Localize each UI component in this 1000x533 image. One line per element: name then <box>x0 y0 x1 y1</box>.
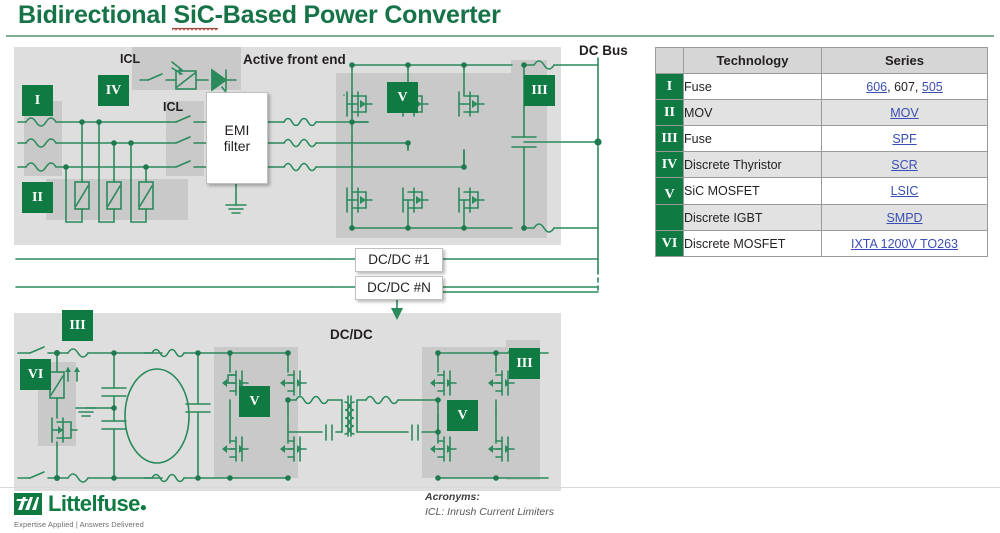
table-cell-series: IXTA 1200V TO263 <box>822 231 988 257</box>
table-row: IVDiscrete ThyristorSCR <box>656 152 988 178</box>
table-cell-numeral: I <box>656 74 684 100</box>
footer-divider <box>0 487 1000 488</box>
littelfuse-mark-icon <box>14 493 42 515</box>
series-text: 607 <box>894 80 915 94</box>
table-cell-series: MOV <box>822 100 988 126</box>
table-cell-technology: MOV <box>684 100 822 126</box>
active-front-end-label: Active front end <box>243 52 346 67</box>
dc-bus-label: DC Bus <box>579 43 628 58</box>
table-row: VSiC MOSFETLSIC <box>656 178 988 205</box>
badge-afe-thyristor: IV <box>98 75 129 106</box>
table-cell-technology: Discrete Thyristor <box>684 152 822 178</box>
acronyms-heading: Acronyms: <box>425 490 554 505</box>
table-header-row: Technology Series <box>656 48 988 74</box>
emi-filter-label-line2: filter <box>224 138 250 154</box>
series-link[interactable]: 505 <box>922 80 943 94</box>
technology-series-table: Technology Series IFuse606, 607, 505IIMO… <box>655 47 988 257</box>
series-text: , <box>915 80 922 94</box>
series-link[interactable]: SPF <box>892 132 916 146</box>
emi-filter-label-line1: EMI <box>225 122 250 138</box>
badge-dcdc-discrete-mosfet: VI <box>20 359 51 390</box>
table-body: IFuse606, 607, 505IIMOVMOVIIIFuseSPFIVDi… <box>656 74 988 257</box>
table-cell-series: SCR <box>822 152 988 178</box>
table-row: IIIFuseSPF <box>656 126 988 152</box>
littelfuse-tagline: Expertise Applied | Answers Delivered <box>14 520 144 529</box>
littelfuse-logo: Littelfuse● Expertise Applied | Answers … <box>14 492 204 530</box>
table-cell-technology: Fuse <box>684 74 822 100</box>
icl-switch-label: ICL <box>163 100 183 114</box>
table-cell-series: SMPD <box>822 205 988 231</box>
table-cell-series: LSIC <box>822 178 988 205</box>
badge-afe-dc-fuse: III <box>524 75 555 106</box>
table-cell-numeral-continued <box>656 205 684 231</box>
series-link[interactable]: MOV <box>890 106 918 120</box>
icl-thyristor-label: ICL <box>120 52 140 66</box>
acronyms-note: Acronyms: ICL: Inrush Current Limiters <box>425 490 554 520</box>
table-cell-numeral: VI <box>656 231 684 257</box>
table-cell-numeral: IV <box>656 152 684 178</box>
littelfuse-wordmark: Littelfuse● <box>48 491 146 517</box>
series-link[interactable]: 606 <box>866 80 887 94</box>
header-technology: Technology <box>684 48 822 74</box>
series-link[interactable]: SMPD <box>886 211 922 225</box>
header-series: Series <box>822 48 988 74</box>
table-row: Discrete IGBTSMPD <box>656 205 988 231</box>
table-cell-series: 606, 607, 505 <box>822 74 988 100</box>
badge-dcdc-output-fuse: III <box>509 348 540 379</box>
emi-filter-block: EMI filter <box>206 92 268 184</box>
badge-dcdc-input-fuse: III <box>62 310 93 341</box>
table-row: VIDiscrete MOSFETIXTA 1200V TO263 <box>656 231 988 257</box>
series-link[interactable]: SCR <box>891 158 917 172</box>
badge-dcdc-secondary-mosfet: V <box>447 400 478 431</box>
table-cell-technology: Discrete IGBT <box>684 205 822 231</box>
series-link[interactable]: IXTA 1200V TO263 <box>851 237 958 251</box>
dcdc-section-label: DC/DC <box>330 327 373 342</box>
series-link[interactable]: LSIC <box>891 184 919 198</box>
table-cell-numeral: III <box>656 126 684 152</box>
table-cell-technology: SiC MOSFET <box>684 178 822 205</box>
table-cell-technology: Discrete MOSFET <box>684 231 822 257</box>
table-cell-technology: Fuse <box>684 126 822 152</box>
table-cell-numeral: II <box>656 100 684 126</box>
wordmark-text: Littelfuse <box>48 491 140 516</box>
table-cell-numeral: V <box>656 178 684 205</box>
badge-dcdc-primary-mosfet: V <box>239 386 270 417</box>
acronym-entry-icl: ICL: Inrush Current Limiters <box>425 505 554 520</box>
table-cell-series: SPF <box>822 126 988 152</box>
table-row: IFuse606, 607, 505 <box>656 74 988 100</box>
table-row: IIMOVMOV <box>656 100 988 126</box>
dcdc-first-label: DC/DC #1 <box>355 248 443 272</box>
badge-afe-mov: II <box>22 182 53 213</box>
header-numeral-blank <box>656 48 684 74</box>
badge-afe-input-fuse: I <box>22 85 53 116</box>
dcdc-last-label: DC/DC #N <box>355 276 443 300</box>
badge-afe-sic-mosfet: V <box>387 82 418 113</box>
